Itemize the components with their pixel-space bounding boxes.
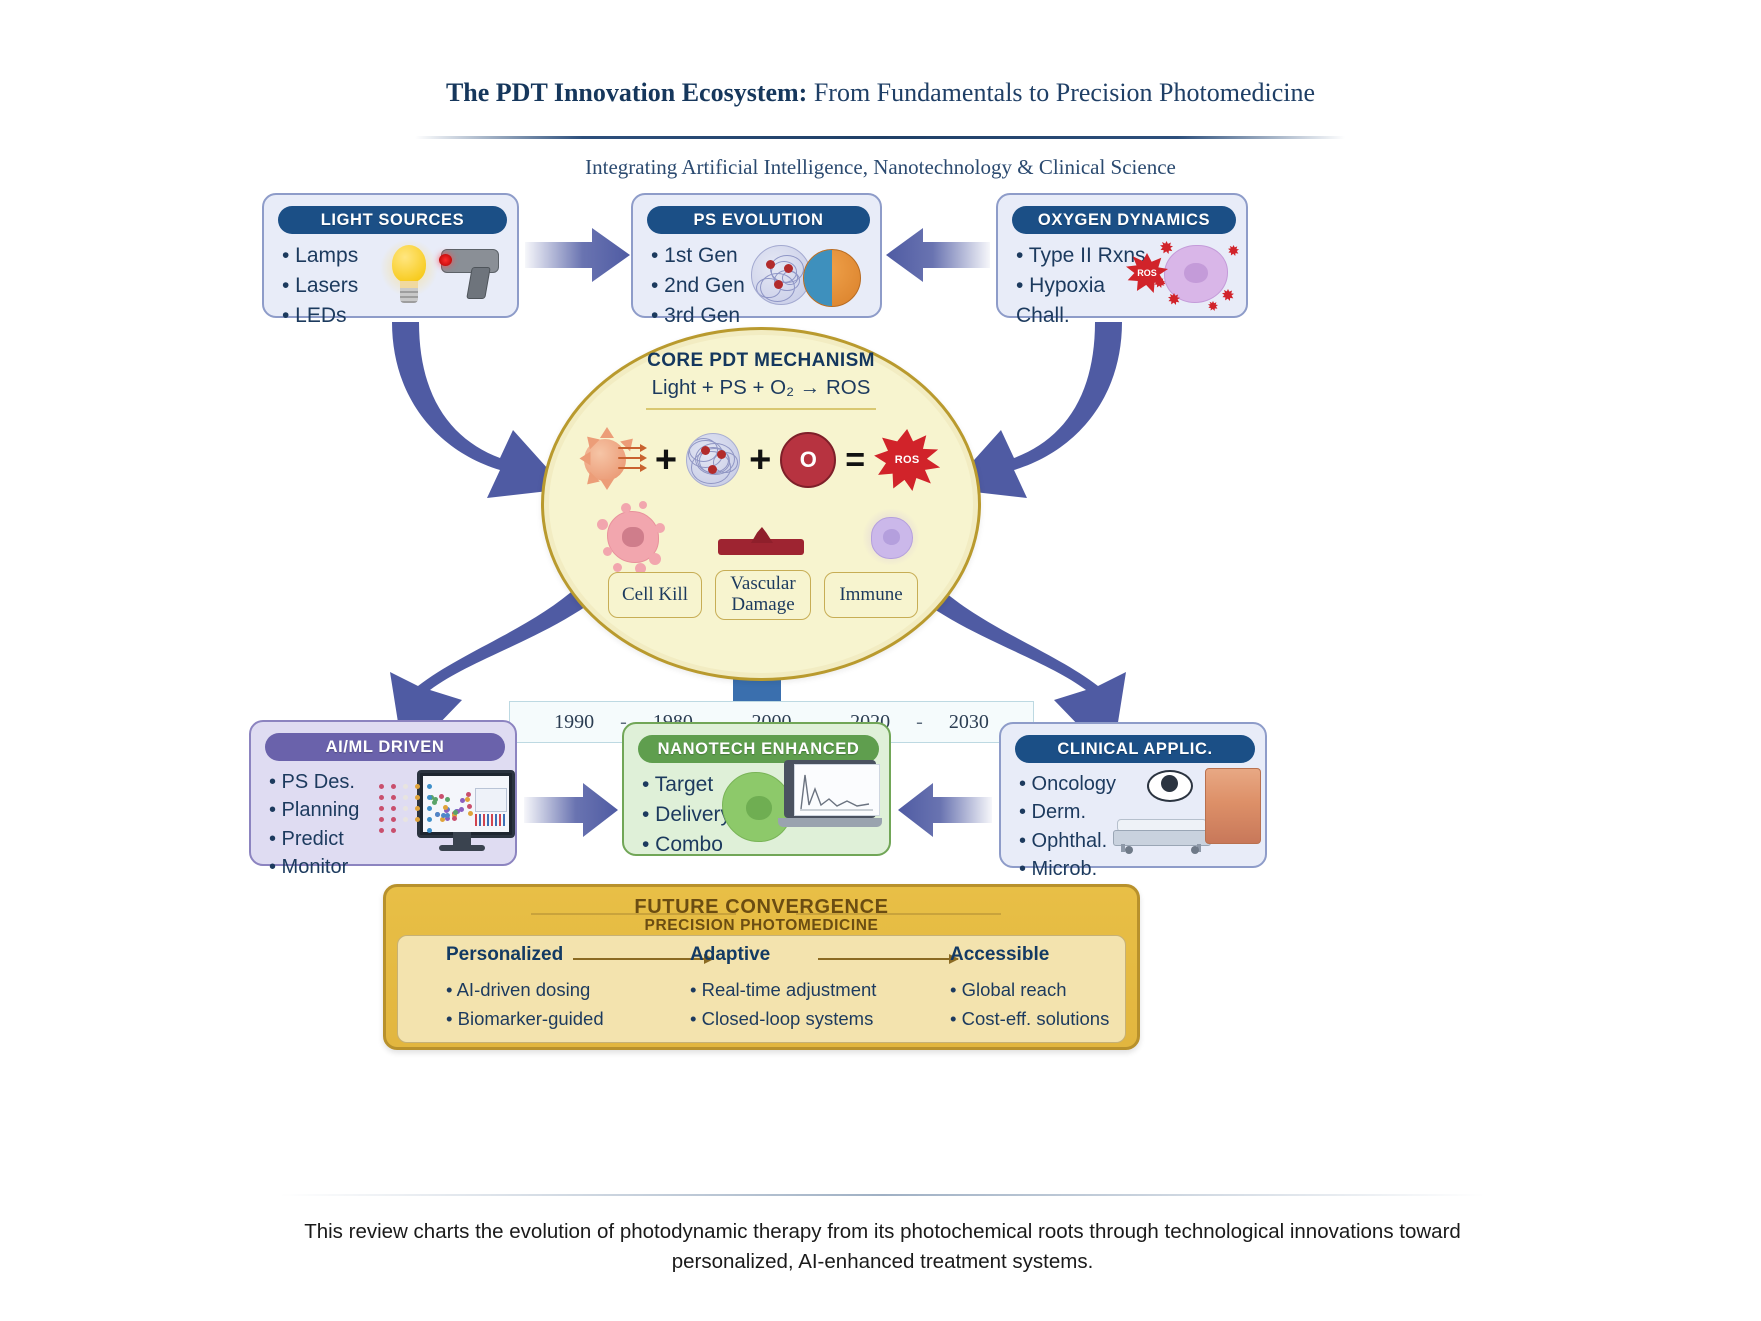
arrow-light-to-core [392, 322, 566, 498]
core-equation: Light + PS + O₂ → ROS [544, 376, 978, 400]
card-nanotech-items: • Target • Delivery • Combo [642, 770, 731, 859]
card-ai-ml-header: AI/ML DRIVEN [265, 733, 505, 761]
page-title: The PDT Innovation Ecosystem: From Funda… [0, 78, 1761, 108]
list-item: • Lamps [282, 241, 358, 271]
card-clinical-header: CLINICAL APPLIC. [1015, 735, 1255, 763]
list-item: • Ophthal. [1019, 827, 1116, 855]
list-item: • Microb. [1019, 855, 1116, 883]
list-item: • Oncology [1019, 770, 1116, 798]
future-column-head: Personalized [446, 944, 604, 966]
main-title-rest: From Fundamentals to Precision Photomedi… [807, 78, 1315, 107]
future-column-accessible: Accessible • Global reach • Cost-eff. so… [950, 944, 1109, 1033]
list-item: • Lasers [282, 271, 358, 301]
timeline-entry: 1990 [554, 711, 594, 734]
future-column-adaptive: Adaptive • Real-time adjustment • Closed… [690, 944, 876, 1033]
card-oxygen-dynamics-header: OXYGEN DYNAMICS [1012, 206, 1236, 234]
card-ps-evolution-items: • 1st Gen • 2nd Gen • 3rd Gen [651, 241, 745, 330]
list-item: • Cost-eff. solutions [950, 1005, 1109, 1034]
card-nanotech-header: NANOTECH ENHANCED [638, 735, 879, 763]
list-item: • Real-time adjustment [690, 976, 876, 1005]
timeline-separator: - [916, 711, 923, 734]
future-title: FUTURE CONVERGENCE [386, 896, 1137, 919]
diagram-canvas: The PDT Innovation Ecosystem: From Funda… [0, 0, 1761, 1321]
arrow-light-to-ps [525, 228, 630, 282]
core-outcome-labels: Cell Kill Vascular Damage Immune [544, 572, 978, 624]
list-item: • PS Des. [269, 768, 359, 796]
list-item: • LEDs [282, 301, 358, 331]
figure-caption: This review charts the evolution of phot… [280, 1217, 1485, 1276]
ros-label: ROS [895, 454, 920, 466]
outcome-immune[interactable]: Immune [824, 572, 918, 618]
future-inner-panel: Personalized • AI-driven dosing • Biomar… [397, 935, 1126, 1043]
future-subtitle: PRECISION PHOTOMEDICINE [386, 917, 1137, 935]
list-item: • Delivery [642, 800, 731, 830]
core-title: CORE PDT MECHANISM [544, 350, 978, 372]
list-item: • Target [642, 770, 731, 800]
laser-gun-icon [439, 239, 501, 301]
card-clinical-applications[interactable]: CLINICAL APPLIC. • Oncology • Derm. • Op… [999, 722, 1267, 868]
future-header: FUTURE CONVERGENCE PRECISION PHOTOMEDICI… [386, 896, 1137, 935]
arrow-ai-to-nanotech [524, 783, 618, 837]
outcome-vascular-damage[interactable]: Vascular Damage [715, 570, 811, 620]
timeline-entry: 2030 [949, 711, 989, 734]
future-column-items: • AI-driven dosing • Biomarker-guided [446, 976, 604, 1033]
outcome-vascular-line2: Damage [731, 595, 794, 616]
future-column-head: Accessible [950, 944, 1109, 966]
green-cell-icon [722, 760, 890, 852]
plus-operator: + [655, 441, 677, 479]
outcome-vascular-line1: Vascular [730, 574, 795, 595]
list-item: • Biomarker-guided [446, 1005, 604, 1034]
oxygen-molecule-icon: O [780, 432, 836, 488]
equals-operator: = [845, 443, 865, 477]
card-light-sources[interactable]: LIGHT SOURCES • Lamps • Lasers • LEDs [262, 193, 519, 318]
caption-divider [280, 1194, 1485, 1196]
arrow-clinical-to-nanotech [898, 783, 992, 837]
card-oxygen-dynamics[interactable]: OXYGEN DYNAMICS • Type II Rxns • Hypoxia… [996, 193, 1248, 318]
future-column-head: Adaptive [690, 944, 876, 966]
ros-burst-icon: ROS [1124, 239, 1240, 311]
future-column-items: • Real-time adjustment • Closed-loop sys… [690, 976, 876, 1033]
card-light-sources-header: LIGHT SOURCES [278, 206, 507, 234]
apoptotic-cell-icon [595, 501, 667, 573]
list-item: • Predict [269, 825, 359, 853]
main-title: The PDT Innovation Ecosystem: From Funda… [0, 78, 1761, 108]
card-nanotech-enhanced[interactable]: NANOTECH ENHANCED • Target • Delivery • … [622, 722, 891, 856]
list-item: • Derm. [1019, 798, 1116, 826]
nanoparticle-icon [751, 241, 871, 313]
title-divider [415, 136, 1345, 139]
card-ps-evolution[interactable]: PS EVOLUTION • 1st Gen • 2nd Gen • 3rd G… [631, 193, 882, 318]
future-column-items: • Global reach • Cost-eff. solutions [950, 976, 1109, 1033]
hospital-bed-icon [1113, 768, 1263, 852]
immune-cell-icon [855, 501, 927, 573]
neural-network-icon [373, 770, 509, 858]
light-burst-icon [582, 431, 646, 489]
list-item: • 1st Gen [651, 241, 745, 271]
card-ai-ml-items: • PS Des. • Planning • Predict • Monitor [269, 768, 359, 882]
ros-star-icon: ROS [874, 429, 940, 491]
card-clinical-items: • Oncology • Derm. • Ophthal. • Microb. [1019, 770, 1116, 884]
list-item: • AI-driven dosing [446, 976, 604, 1005]
list-item: • Closed-loop systems [690, 1005, 876, 1034]
list-item: • Global reach [950, 976, 1109, 1005]
plus-operator: + [749, 441, 771, 479]
card-light-sources-items: • Lamps • Lasers • LEDs [282, 241, 358, 330]
blood-vessel-icon [718, 515, 804, 559]
future-convergence-panel[interactable]: FUTURE CONVERGENCE PRECISION PHOTOMEDICI… [383, 884, 1140, 1050]
list-item: • Monitor [269, 853, 359, 881]
lightbulb-icon [386, 243, 432, 305]
arrow-oxygen-to-ps [886, 228, 990, 282]
card-ps-evolution-header: PS EVOLUTION [647, 206, 870, 234]
list-item: • Planning [269, 796, 359, 824]
card-ai-ml-driven[interactable]: AI/ML DRIVEN • PS Des. • Planning • Pred… [249, 720, 517, 866]
outcome-cell-kill[interactable]: Cell Kill [608, 572, 702, 618]
core-outcome-icons [544, 498, 978, 576]
core-divider [646, 408, 876, 410]
core-pdt-mechanism[interactable]: CORE PDT MECHANISM Light + PS + O₂ → ROS… [541, 327, 981, 681]
subtitle: Integrating Artificial Intelligence, Nan… [0, 155, 1761, 180]
list-item: • 2nd Gen [651, 271, 745, 301]
list-item: • Combo [642, 830, 731, 860]
main-title-strong: The PDT Innovation Ecosystem: [446, 78, 807, 107]
future-column-personalized: Personalized • AI-driven dosing • Biomar… [446, 944, 604, 1033]
skin-icon [1205, 768, 1261, 844]
photosensitizer-icon [686, 433, 740, 487]
list-item: • 3rd Gen [651, 301, 745, 331]
core-reaction-row: + + O = ROS [544, 425, 978, 495]
